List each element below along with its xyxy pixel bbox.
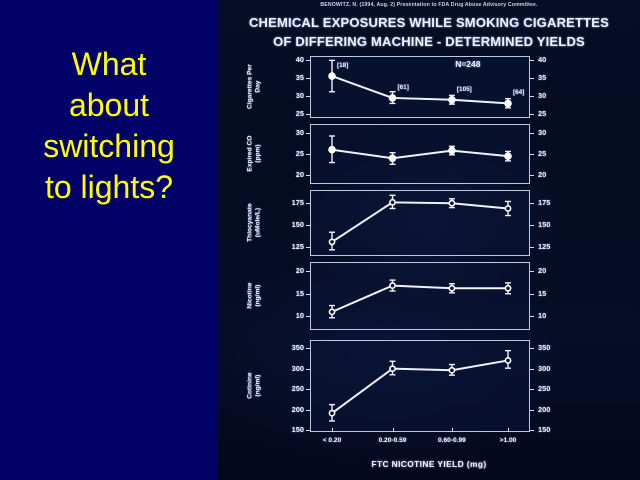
x-tick-label: 0.20-0.59 <box>363 437 423 444</box>
data-point <box>449 368 454 373</box>
left-text-panel: What about switching to lights? <box>0 0 218 480</box>
headline-line-3: switching <box>0 126 218 167</box>
data-point <box>390 366 395 371</box>
x-tick-mark <box>508 428 509 432</box>
series-line <box>332 360 508 413</box>
x-axis-title: FTC NICOTINE YIELD (mg) <box>218 459 640 469</box>
x-tick-mark <box>393 428 394 432</box>
slide-headline: What about switching to lights? <box>0 44 218 208</box>
x-tick-label: 0.60-0.99 <box>422 437 482 444</box>
data-point <box>329 411 334 416</box>
x-tick-label: < 0.20 <box>302 437 362 444</box>
series-plot <box>218 0 640 480</box>
slide-canvas: What about switching to lights? BENOWITZ… <box>0 0 640 480</box>
scanned-figure: BENOWITZ, N. (1994, Aug. 2) Presentation… <box>218 0 640 480</box>
headline-line-4: to lights? <box>0 167 218 208</box>
x-tick-label: >1.00 <box>478 437 538 444</box>
x-tick-mark <box>452 428 453 432</box>
data-point <box>505 358 510 363</box>
headline-line-2: about <box>0 85 218 126</box>
x-tick-mark <box>332 428 333 432</box>
headline-line-1: What <box>0 44 218 85</box>
